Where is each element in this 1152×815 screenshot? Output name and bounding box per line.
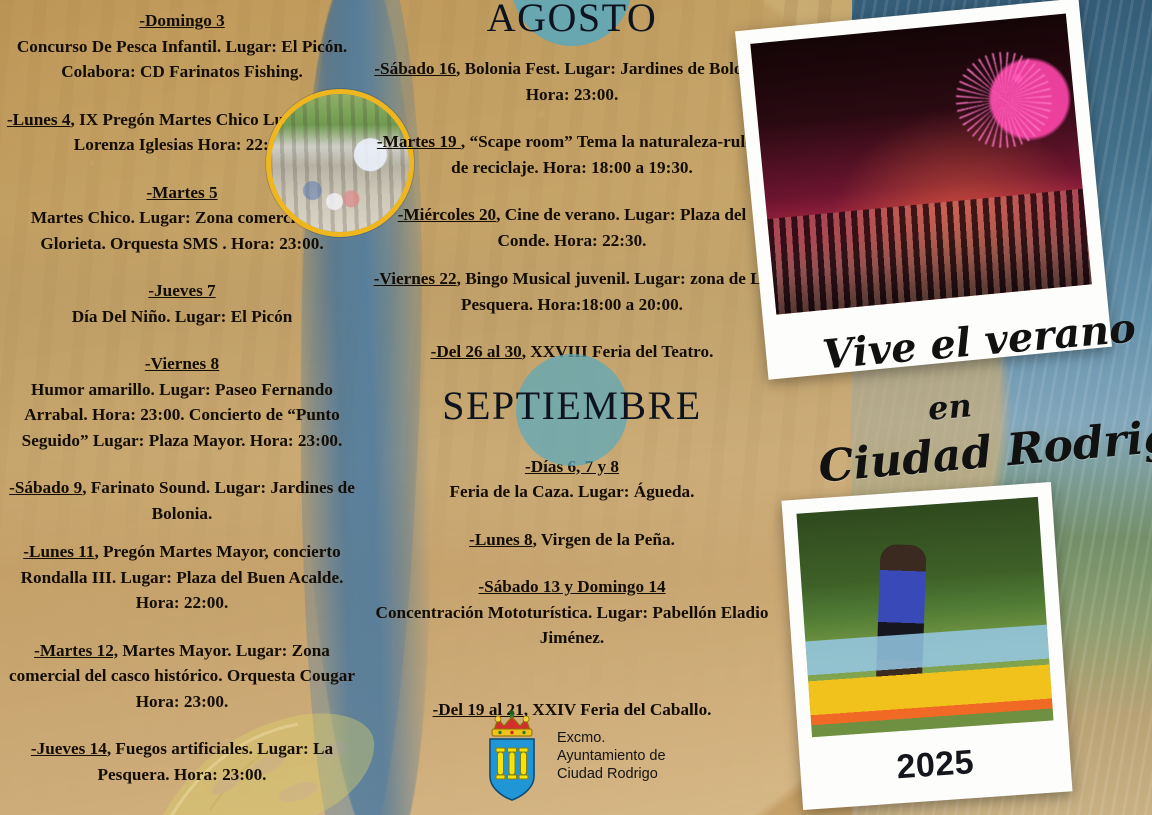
crest-line-3: Ciudad Rodrigo <box>557 765 666 783</box>
event-item: -Martes 12, Martes Mayor. Lugar: Zona co… <box>4 638 360 715</box>
event-body: , Farinato Sound. Lugar: Jardines de Bol… <box>82 478 355 523</box>
event-item: -Miércoles 20, Cine de verano. Lugar: Pl… <box>372 202 772 253</box>
event-date: -Domingo 3 <box>139 11 224 30</box>
event-item: -Jueves 7 Día Del Niño. Lugar: El Picón <box>4 278 360 329</box>
month-title-septiembre: SEPTIEMBRE <box>372 382 772 429</box>
firework-burst-icon <box>951 48 1056 153</box>
event-date: -Viernes 8 <box>145 354 219 373</box>
event-date: -Jueves 14 <box>31 739 107 758</box>
polaroid-kayak: 2025 <box>782 482 1073 810</box>
month-title-agosto: AGOSTO <box>372 0 772 41</box>
event-date: -Miércoles 20 <box>398 205 496 224</box>
event-item: -Viernes 8 Humor amarillo. Lugar: Paseo … <box>4 351 360 453</box>
event-item: -Lunes 11, Pregón Martes Mayor, conciert… <box>4 539 360 616</box>
septiembre-heading-block: SEPTIEMBRE <box>372 382 772 444</box>
headline-line-2: en <box>926 386 973 428</box>
event-date: -Martes 12, <box>34 641 118 660</box>
event-item: -Lunes 8, Virgen de la Peña. <box>372 527 772 553</box>
kayaker-figure <box>876 544 927 696</box>
fireworks-photo <box>750 14 1092 315</box>
event-body: , Bingo Musical juvenil. Lugar: zona de … <box>457 269 771 314</box>
event-date: -Martes 5 <box>146 183 217 202</box>
event-date: -Del 26 al 30 <box>431 342 522 361</box>
event-item: -Sábado 13 y Domingo 14 Concentración Mo… <box>372 574 772 651</box>
poster-canvas: -Domingo 3 Concurso De Pesca Infantil. L… <box>0 0 1152 815</box>
event-body: Día Del Niño. Lugar: El Picón <box>72 307 293 326</box>
event-date: -Lunes 4 <box>7 110 71 129</box>
crest-line-1: Excmo. <box>557 729 666 747</box>
event-body: , Bolonia Fest. Lugar: Jardines de Bolon… <box>456 59 770 104</box>
crest-line-2: Ayuntamiento de <box>557 747 666 765</box>
event-body: Humor amarillo. Lugar: Paseo Fernando Ar… <box>22 380 343 450</box>
event-date: -Lunes 8 <box>469 530 533 549</box>
kayak-photo <box>796 497 1053 737</box>
event-date: -Sábado 9 <box>9 478 82 497</box>
city-council-logo: Excmo. Ayuntamiento de Ciudad Rodrigo <box>486 706 671 806</box>
agosto-heading-block: AGOSTO <box>372 0 772 46</box>
event-date: -Martes 19 <box>377 132 461 151</box>
event-item: -Sábado 9, Farinato Sound. Lugar: Jardin… <box>4 475 360 526</box>
event-date: -Sábado 16 <box>374 59 456 78</box>
event-date: -Viernes 22 <box>374 269 457 288</box>
middle-events-column: AGOSTO -Sábado 16, Bolonia Fest. Lugar: … <box>372 0 772 739</box>
event-body: , Virgen de la Peña. <box>533 530 675 549</box>
event-item: -Sábado 16, Bolonia Fest. Lugar: Jardine… <box>372 56 772 107</box>
event-date: -Lunes 11 <box>23 542 94 561</box>
event-body: , Fuegos artificiales. Lugar: La Pesquer… <box>98 739 334 784</box>
event-body: Feria de la Caza. Lugar: Águeda. <box>450 482 695 501</box>
event-body: Concentración Mototurística. Lugar: Pabe… <box>376 603 769 648</box>
event-body: , “Scape room” Tema la naturaleza-ruleta… <box>451 132 767 177</box>
event-body: , Cine de verano. Lugar: Plaza del Conde… <box>496 205 746 250</box>
crest-text-block: Excmo. Ayuntamiento de Ciudad Rodrigo <box>557 729 666 783</box>
event-date: -Sábado 13 y Domingo 14 <box>478 577 665 596</box>
event-item: -Viernes 22, Bingo Musical juvenil. Luga… <box>372 266 772 317</box>
event-body: Concurso De Pesca Infantil. Lugar: El Pi… <box>17 37 347 82</box>
event-item: -Domingo 3 Concurso De Pesca Infantil. L… <box>4 8 360 85</box>
event-item: -Martes 19 , “Scape room” Tema la natura… <box>372 129 772 180</box>
event-date: -Jueves 7 <box>148 281 215 300</box>
event-item: -Jueves 14, Fuegos artificiales. Lugar: … <box>4 736 360 787</box>
coat-of-arms-icon <box>486 710 548 802</box>
